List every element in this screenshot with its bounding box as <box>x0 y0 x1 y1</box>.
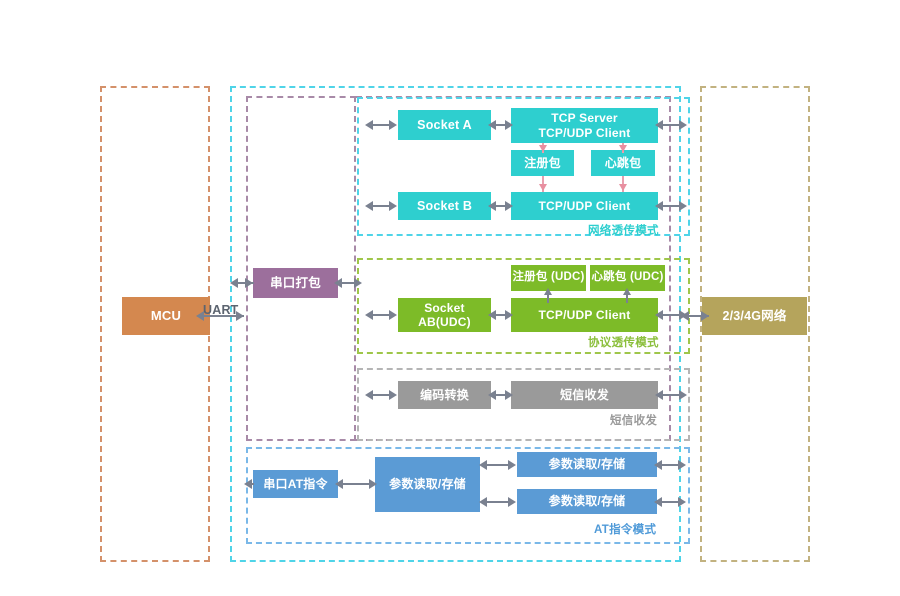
legend-protocol-mode: 协议透传模式 <box>588 334 659 350</box>
arrowhead-tcpserver-left <box>505 120 513 130</box>
node-tcp-client-1[interactable]: TCP/UDP Client <box>511 192 658 220</box>
arrowhead-parambottom-right-out <box>678 497 686 507</box>
node-tcp-server-label: TCP Server TCP/UDP Client <box>539 111 631 139</box>
node-network[interactable]: 2/3/4G网络 <box>702 297 807 335</box>
arrowhead-tcpclientudc-left <box>505 310 513 320</box>
arrowhead-socketb-left-in <box>389 201 397 211</box>
arrowhead-paramtop-right-in <box>654 460 662 470</box>
arrowhead-sms-right-in <box>655 390 663 400</box>
node-serial-at-label: 串口AT指令 <box>263 477 327 491</box>
arrowhead-socketab-left <box>365 310 373 320</box>
arrowhead-parammain-left <box>369 479 377 489</box>
arrowhead-tcpclientudc-right-out <box>679 310 687 320</box>
arrowhead-socketa-left-in <box>389 120 397 130</box>
node-reg-packet-label: 注册包 <box>524 156 561 170</box>
diagram-canvas: 网络透传模式 协议透传模式 短信收发 AT指令模式 MCU 2/3/4G网络 U… <box>0 0 900 596</box>
arrowhead-encode-right <box>488 390 496 400</box>
node-param-bottom[interactable]: 参数读取/存储 <box>517 489 657 514</box>
arrowhead-parambottom-left <box>508 497 516 507</box>
arrowhead-tcpclientudc-right-in <box>655 310 663 320</box>
legend-at-mode: AT指令模式 <box>594 521 656 537</box>
arrowhead-paramtop-right-out <box>678 460 686 470</box>
node-reg-packet[interactable]: 注册包 <box>511 150 574 176</box>
arrowhead-socketb-left <box>365 201 373 211</box>
arrowhead-socketab-left-in <box>389 310 397 320</box>
node-socket-a[interactable]: Socket A <box>398 110 491 140</box>
node-mcu-label: MCU <box>151 308 181 323</box>
arrowhead-serial-pack-right <box>354 278 362 288</box>
arrowhead-encode-left-in <box>389 390 397 400</box>
arrowhead-reg-down-2 <box>539 184 547 191</box>
node-param-main[interactable]: 参数读取/存储 <box>375 457 480 512</box>
arrowhead-socketa-right <box>488 120 496 130</box>
arrowhead-serial-pack-left-in <box>245 278 253 288</box>
legend-sms-mode: 短信收发 <box>610 412 657 428</box>
arrowhead-socketb-right <box>488 201 496 211</box>
node-serial-pack-label: 串口打包 <box>270 276 321 291</box>
node-socket-ab-udc[interactable]: Socket AB(UDC) <box>398 298 491 332</box>
arrowhead-socketab-right <box>488 310 496 320</box>
node-heart-packet[interactable]: 心跳包 <box>591 150 655 176</box>
arrowhead-socketa-left <box>365 120 373 130</box>
node-serial-pack[interactable]: 串口打包 <box>253 268 338 298</box>
arrowhead-parambottom-right-in <box>654 497 662 507</box>
node-tcp-client-1-label: TCP/UDP Client <box>539 199 631 213</box>
arrowhead-heart-down-2 <box>619 184 627 191</box>
uart-label: UART <box>203 303 239 317</box>
arrowhead-tcpserver-right-out <box>679 120 687 130</box>
arrowhead-serialat-right <box>335 479 343 489</box>
arrowhead-regudc-up <box>544 288 552 295</box>
arrowhead-tcpclient1-left <box>505 201 513 211</box>
node-serial-at[interactable]: 串口AT指令 <box>253 470 338 498</box>
arrowhead-sms-right-out <box>679 390 687 400</box>
node-param-top-label: 参数读取/存储 <box>549 457 626 471</box>
arrowhead-at-left-out <box>244 479 252 489</box>
node-network-label: 2/3/4G网络 <box>722 309 786 324</box>
node-tcp-client-udc-label: TCP/UDP Client <box>539 308 631 322</box>
node-param-bottom-label: 参数读取/存储 <box>549 494 626 508</box>
arrowhead-reg-down <box>539 145 547 152</box>
arrowhead-serial-pack-right-in <box>334 278 342 288</box>
node-socket-a-label: Socket A <box>417 118 472 133</box>
arrowhead-tcpclient1-right-out <box>679 201 687 211</box>
node-socket-ab-udc-label: Socket AB(UDC) <box>418 301 471 329</box>
node-encode-convert[interactable]: 编码转换 <box>398 381 491 409</box>
edge-at-left-out <box>252 483 254 485</box>
node-heart-packet-udc-label: 心跳包 (UDC) <box>591 271 663 285</box>
node-sms-send-recv-label: 短信收发 <box>560 388 609 402</box>
arrowhead-sms-left <box>505 390 513 400</box>
arrowhead-paramtop-left <box>508 460 516 470</box>
arrowhead-tcpclient1-right-in <box>655 201 663 211</box>
arrowhead-parammain-bottom-out <box>479 497 487 507</box>
legend-network-mode: 网络透传模式 <box>588 222 659 238</box>
node-tcp-server[interactable]: TCP Server TCP/UDP Client <box>511 108 658 143</box>
node-param-top[interactable]: 参数读取/存储 <box>517 452 657 477</box>
node-sms-send-recv[interactable]: 短信收发 <box>511 381 658 409</box>
node-socket-b-label: Socket B <box>417 199 472 214</box>
arrowhead-serial-pack-left <box>230 278 238 288</box>
node-socket-b[interactable]: Socket B <box>398 192 491 220</box>
arrowhead-heartudc-up <box>623 288 631 295</box>
node-heart-packet-label: 心跳包 <box>605 156 642 170</box>
arrowhead-parammain-top-out <box>479 460 487 470</box>
node-param-main-label: 参数读取/存储 <box>389 477 466 491</box>
arrowhead-tcpserver-right-in <box>655 120 663 130</box>
arrowhead-heart-down <box>619 145 627 152</box>
node-encode-convert-label: 编码转换 <box>420 388 469 402</box>
node-tcp-client-udc[interactable]: TCP/UDP Client <box>511 298 658 332</box>
arrowhead-encode-left <box>365 390 373 400</box>
node-reg-packet-udc-label: 注册包 (UDC) <box>512 271 584 285</box>
arrowhead-network-out <box>701 311 709 321</box>
